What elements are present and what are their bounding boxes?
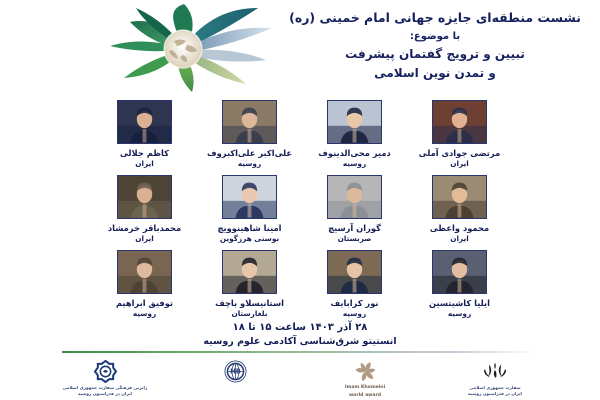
footer-logo: HB bbox=[187, 359, 283, 385]
speaker-name: علی‌اکبر علی‌اکبروف bbox=[207, 148, 292, 159]
speaker-name: محمود واعظی bbox=[430, 223, 489, 234]
title-block: نشست منطقه‌ای جایزه جهانی امام خمینی (ره… bbox=[280, 8, 590, 83]
speaker-name: امینا شاهینوویچ bbox=[218, 223, 282, 234]
footer-logo: رایزنی فرهنگی سفارت جمهوری اسلامی ایران … bbox=[57, 359, 153, 397]
speaker-card: توفیق ابراهیم روسیه bbox=[92, 250, 197, 325]
speaker-country: روسیه bbox=[207, 159, 292, 168]
event-datetime: ۲۸ آذر ۱۴۰۳ ساعت ۱۵ تا ۱۸ bbox=[0, 320, 600, 335]
speaker-country: روسیه bbox=[116, 309, 173, 318]
globe-swirl-logo-icon bbox=[88, 2, 278, 94]
speaker-name: توفیق ابراهیم bbox=[116, 298, 173, 309]
institute-oriental-studies-emblem-icon: HB bbox=[224, 359, 247, 384]
section-divider bbox=[62, 351, 538, 353]
speaker-card: نور کرابایف روسیه bbox=[302, 250, 407, 325]
speaker-name: گوران آرسیچ bbox=[328, 223, 381, 234]
speaker-caption: امینا شاهینوویچ بوسنی هرزگوین bbox=[218, 223, 282, 243]
speaker-name: نور کرابایف bbox=[330, 298, 378, 309]
svg-text:HB: HB bbox=[230, 368, 241, 376]
topic-line-1: تبیین و ترویج گفتمان پیشرفت bbox=[280, 45, 590, 64]
speaker-grid: مرتضی جوادی آملی ایران دمیر محی‌الدینوف … bbox=[92, 100, 512, 325]
speaker-caption: ایلیا کاشیتسین روسیه bbox=[429, 298, 490, 318]
page-title: نشست منطقه‌ای جایزه جهانی امام خمینی (ره… bbox=[280, 8, 590, 27]
portrait-photo-icon bbox=[432, 175, 487, 219]
speaker-country: ایران bbox=[120, 159, 169, 168]
speaker-country: صربستان bbox=[328, 234, 381, 243]
speaker-card: مرتضی جوادی آملی ایران bbox=[407, 100, 512, 175]
topic-line-2: و تمدن نوین اسلامی bbox=[280, 64, 590, 83]
speaker-caption: کاظم جلالی ایران bbox=[120, 148, 169, 168]
speaker-name: استانیسلاو باچف bbox=[215, 298, 284, 309]
speaker-country: بوسنی هرزگوین bbox=[218, 234, 282, 243]
speaker-card: محمود واعظی ایران bbox=[407, 175, 512, 250]
footer-logo: سفارت جمهوری اسلامی ایران در فدراسیون رو… bbox=[447, 359, 543, 397]
speaker-country: روسیه bbox=[318, 159, 390, 168]
speaker-caption: علی‌اکبر علی‌اکبروف روسیه bbox=[207, 148, 292, 168]
speaker-card: دمیر محی‌الدینوف روسیه bbox=[302, 100, 407, 175]
speaker-caption: توفیق ابراهیم روسیه bbox=[116, 298, 173, 318]
speaker-card: کاظم جلالی ایران bbox=[92, 100, 197, 175]
speaker-card: امینا شاهینوویچ بوسنی هرزگوین bbox=[197, 175, 302, 250]
speaker-caption: محمود واعظی ایران bbox=[430, 223, 489, 243]
footer-logo-label: سفارت جمهوری اسلامی ایران در فدراسیون رو… bbox=[468, 385, 522, 397]
speaker-caption: استانیسلاو باچف بلغارستان bbox=[215, 298, 284, 318]
speaker-card: محمدباقر خرمشاد ایران bbox=[92, 175, 197, 250]
imam-khomeini-award-emblem-icon bbox=[354, 359, 377, 384]
speaker-card: ایلیا کاشیتسین روسیه bbox=[407, 250, 512, 325]
footer-logo-label: رایزنی فرهنگی سفارت جمهوری اسلامی ایران … bbox=[63, 385, 148, 397]
iran-embassy-emblem-icon bbox=[483, 359, 507, 384]
event-venue: انستیتو شرق‌شناسی آکادمی علوم روسیه bbox=[0, 335, 600, 349]
footer-logo: Imam Khomeini world award bbox=[317, 359, 413, 399]
speaker-card: استانیسلاو باچف بلغارستان bbox=[197, 250, 302, 325]
speaker-caption: نور کرابایف روسیه bbox=[330, 298, 378, 318]
portrait-photo-icon bbox=[327, 250, 382, 294]
speaker-country: روسیه bbox=[429, 309, 490, 318]
portrait-photo-icon bbox=[117, 100, 172, 144]
portrait-photo-icon bbox=[222, 100, 277, 144]
footer-logo-label: Imam Khomeini bbox=[345, 385, 385, 392]
portrait-photo-icon bbox=[432, 250, 487, 294]
portrait-photo-icon bbox=[432, 100, 487, 144]
speaker-caption: گوران آرسیچ صربستان bbox=[328, 223, 381, 243]
portrait-photo-icon bbox=[117, 175, 172, 219]
portrait-photo-icon bbox=[222, 175, 277, 219]
speaker-caption: محمدباقر خرمشاد ایران bbox=[108, 223, 181, 243]
portrait-photo-icon bbox=[327, 175, 382, 219]
speaker-name: ایلیا کاشیتسین bbox=[429, 298, 490, 309]
speaker-country: ایران bbox=[430, 234, 489, 243]
portrait-photo-icon bbox=[222, 250, 277, 294]
speaker-country: ایران bbox=[419, 159, 500, 168]
poster-header: نشست منطقه‌ای جایزه جهانی امام خمینی (ره… bbox=[0, 0, 600, 96]
footer-logo-sublabel: world award bbox=[349, 393, 381, 400]
speaker-name: کاظم جلالی bbox=[120, 148, 169, 159]
speaker-country: روسیه bbox=[330, 309, 378, 318]
speaker-card: گوران آرسیچ صربستان bbox=[302, 175, 407, 250]
speaker-caption: دمیر محی‌الدینوف روسیه bbox=[318, 148, 390, 168]
speaker-card: علی‌اکبر علی‌اکبروف روسیه bbox=[197, 100, 302, 175]
portrait-photo-icon bbox=[117, 250, 172, 294]
speaker-caption: مرتضی جوادی آملی ایران bbox=[419, 148, 500, 168]
speaker-name: محمدباقر خرمشاد bbox=[108, 223, 181, 234]
speaker-country: ایران bbox=[108, 234, 181, 243]
poster-canvas: نشست منطقه‌ای جایزه جهانی امام خمینی (ره… bbox=[0, 0, 600, 400]
cultural-council-emblem-icon bbox=[94, 359, 117, 384]
subject-label: با موضوع: bbox=[280, 28, 590, 45]
speaker-name: مرتضی جوادی آملی bbox=[419, 148, 500, 159]
event-info: ۲۸ آذر ۱۴۰۳ ساعت ۱۵ تا ۱۸ انستیتو شرق‌شن… bbox=[0, 320, 600, 349]
speaker-name: دمیر محی‌الدینوف bbox=[318, 148, 390, 159]
portrait-photo-icon bbox=[327, 100, 382, 144]
footer-logo-strip: رایزنی فرهنگی سفارت جمهوری اسلامی ایران … bbox=[0, 357, 600, 400]
speaker-country: بلغارستان bbox=[215, 309, 284, 318]
